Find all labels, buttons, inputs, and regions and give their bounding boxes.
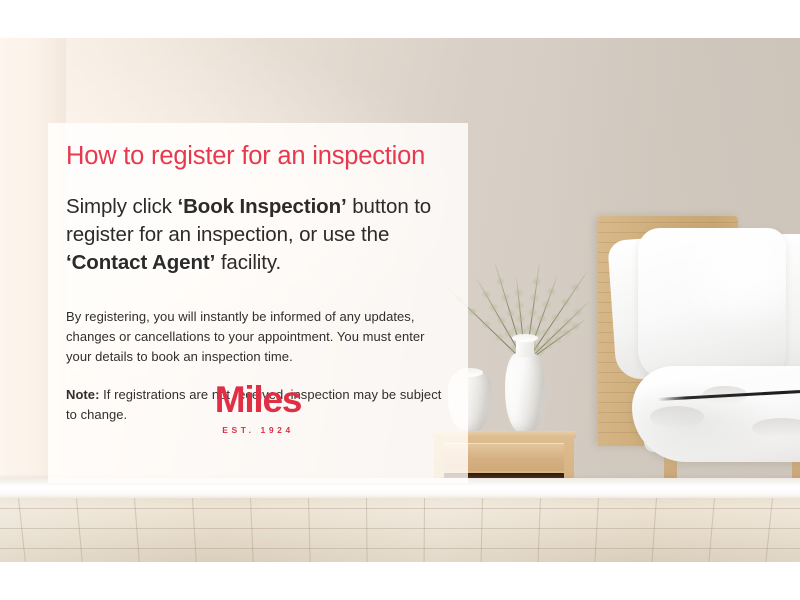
logo-wordmark: Miles xyxy=(48,381,468,418)
floor-seam xyxy=(0,508,800,509)
duvet-fold xyxy=(650,406,704,428)
book-inspection-emphasis: ‘Book Inspection’ xyxy=(177,195,346,218)
branch-foliage xyxy=(568,281,583,294)
logo-established: EST. 1924 xyxy=(48,425,468,435)
page-title: How to register for an inspection xyxy=(66,141,452,171)
vase-lip xyxy=(512,334,538,342)
floor-seam xyxy=(0,528,800,529)
branch-foliage xyxy=(529,275,544,288)
lead-text-1: Simply click xyxy=(66,195,177,218)
vase-tall xyxy=(505,353,545,433)
room-photograph: How to register for an inspection Simply… xyxy=(0,38,800,562)
wood-grain-line xyxy=(598,222,738,223)
floor-seam xyxy=(0,548,800,549)
branch-foliage xyxy=(479,288,494,301)
branch-foliage xyxy=(570,306,585,319)
pillow-main xyxy=(638,228,786,380)
letterbox-band-top xyxy=(0,0,800,38)
letterbox-band-bottom xyxy=(0,562,800,600)
branch-foliage xyxy=(511,286,526,299)
lead-text-3: facility. xyxy=(215,251,281,274)
branch-foliage xyxy=(534,312,549,325)
branch-foliage xyxy=(493,275,508,288)
duvet xyxy=(632,366,800,462)
branch-foliage xyxy=(544,285,559,298)
wood-floor xyxy=(0,498,800,562)
duvet-fold xyxy=(752,418,800,438)
branch-foliage xyxy=(539,298,554,311)
branch-foliage xyxy=(568,320,583,333)
branch-foliage xyxy=(486,301,501,314)
contact-agent-emphasis: ‘Contact Agent’ xyxy=(66,251,215,274)
poster-canvas: How to register for an inspection Simply… xyxy=(0,0,800,600)
info-panel: How to register for an inspection Simply… xyxy=(48,123,468,483)
branch-foliage xyxy=(479,318,494,331)
lead-paragraph: Simply click ‘Book Inspection’ button to… xyxy=(66,193,452,277)
body-paragraph: By registering, you will instantly be in… xyxy=(66,307,452,367)
brand-logo: Miles EST. 1924 xyxy=(48,381,468,435)
